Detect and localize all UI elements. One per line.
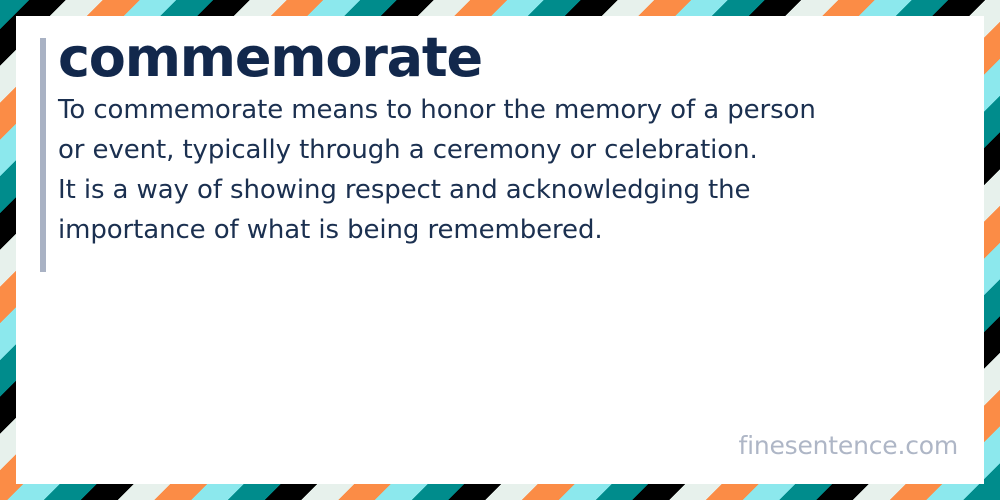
- accent-bar: [40, 38, 46, 272]
- site-watermark: finesentence.com: [738, 431, 958, 460]
- word-title: commemorate: [58, 26, 984, 90]
- definition-card: commemorate To commemorate means to hono…: [16, 16, 984, 484]
- striped-frame: commemorate To commemorate means to hono…: [0, 0, 1000, 500]
- definition-block: commemorate To commemorate means to hono…: [58, 26, 984, 250]
- definition-text: To commemorate means to honor the memory…: [58, 90, 984, 250]
